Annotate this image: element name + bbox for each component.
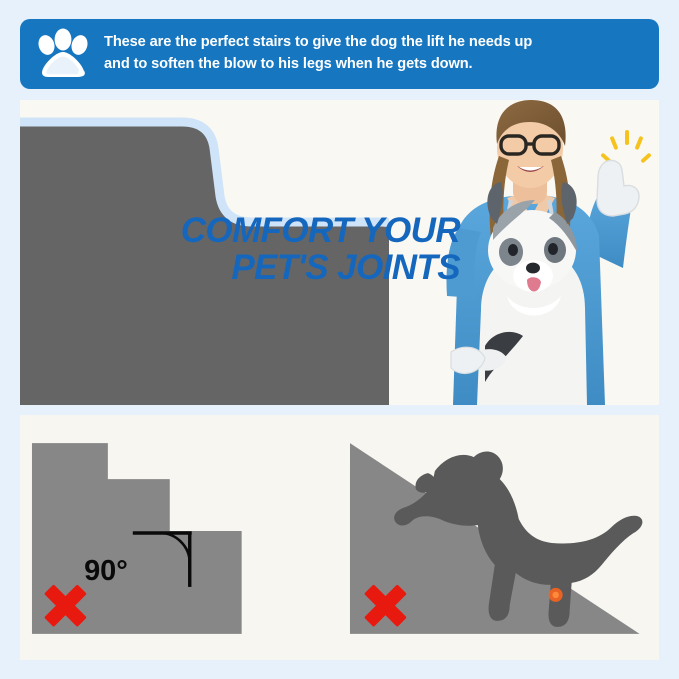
banner-text: These are the perfect stairs to give the…	[104, 32, 532, 76]
top-message-banner: These are the perfect stairs to give the…	[20, 19, 659, 89]
steep-ramp-panel	[340, 415, 660, 660]
banner-line-1: These are the perfect stairs to give the…	[104, 32, 532, 54]
steep-stairs-illustration: 90°	[20, 415, 340, 660]
paw-icon	[36, 28, 90, 80]
page-title: COMFORT YOUR PET'S JOINTS	[110, 212, 460, 287]
infographic-page: These are the perfect stairs to give the…	[0, 0, 679, 679]
steep-stairs-panel: 90°	[20, 415, 340, 660]
title-line-1: COMFORT YOUR	[110, 212, 460, 249]
banner-line-2: and to soften the blow to his legs when …	[104, 54, 532, 76]
steep-ramp-illustration	[340, 415, 660, 660]
border-collie-dog	[473, 182, 587, 405]
joint-marker-core-icon	[552, 592, 558, 598]
title-line-2: PET'S JOINTS	[110, 249, 460, 286]
comparison-section: 90°	[20, 415, 659, 660]
angle-label: 90°	[84, 555, 128, 587]
panel-divider	[333, 415, 347, 660]
